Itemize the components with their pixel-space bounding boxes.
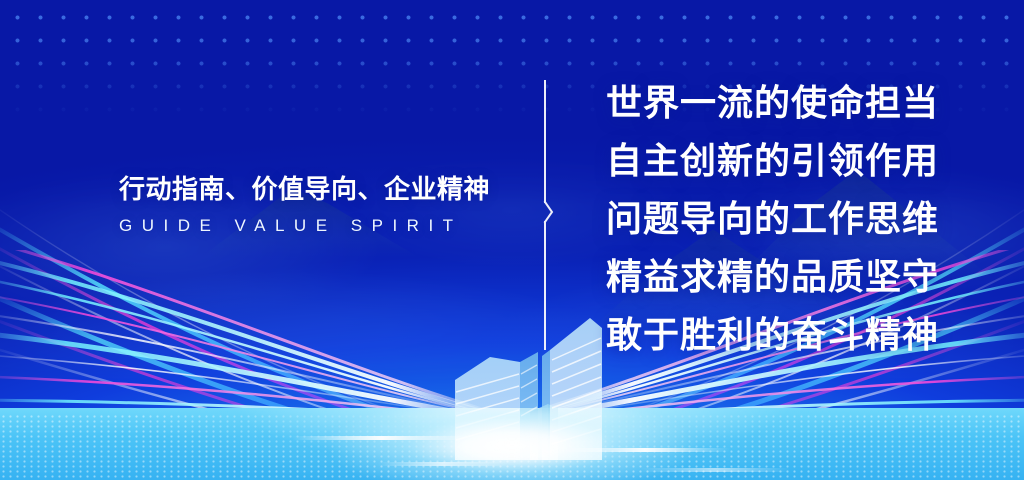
- ground-dot-grid: [0, 414, 1024, 480]
- slogan-line: 精益求精的品质坚守: [606, 248, 1006, 306]
- glass-buildings: [430, 300, 630, 460]
- left-text-block: 行动指南、价值导向、企业精神 GUIDE VALUE SPIRIT: [119, 176, 499, 236]
- slogan-line: 自主创新的引领作用: [606, 132, 1006, 190]
- page-title: 行动指南、价值导向、企业精神: [119, 176, 499, 203]
- ground-light-bar: [378, 462, 508, 466]
- banner-canvas: 行动指南、价值导向、企业精神 GUIDE VALUE SPIRIT 世界一流的使…: [0, 0, 1024, 480]
- vertical-divider: [538, 80, 560, 350]
- center-glow: [252, 412, 772, 480]
- slogan-list: 世界一流的使命担当 自主创新的引领作用 问题导向的工作思维 精益求精的品质坚守 …: [606, 74, 1006, 364]
- ground-light-bar: [292, 436, 472, 440]
- slogan-line: 问题导向的工作思维: [606, 190, 1006, 248]
- chevron-right-icon: [545, 202, 552, 222]
- ground-light-bar: [560, 448, 730, 452]
- page-subtitle: GUIDE VALUE SPIRIT: [119, 216, 499, 236]
- ground-light-bar: [640, 468, 790, 472]
- slogan-line: 敢于胜利的奋斗精神: [606, 306, 1006, 364]
- slogan-line: 世界一流的使命担当: [606, 74, 1006, 132]
- ground-plane: [0, 408, 1024, 480]
